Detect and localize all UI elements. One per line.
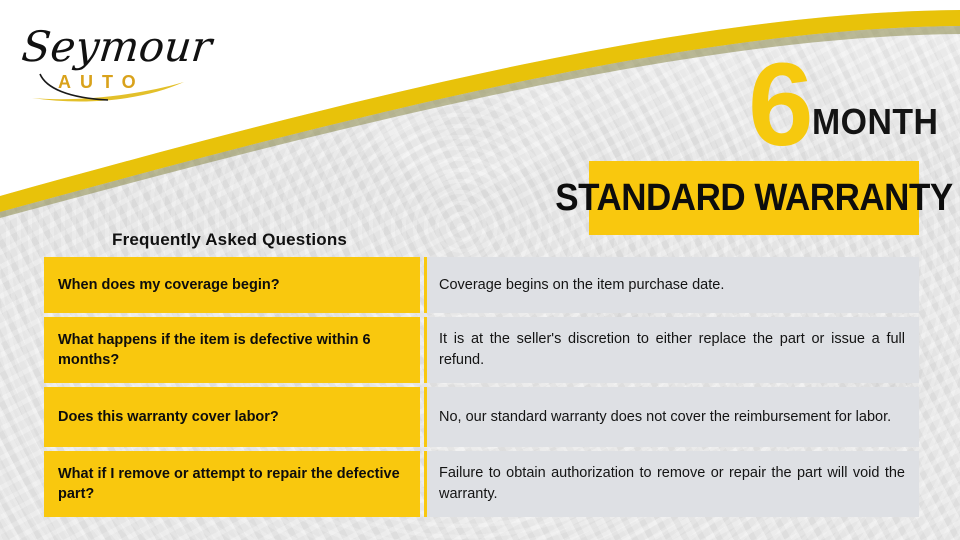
logo-underline-swoosh <box>16 16 196 108</box>
faq-answer-cell: Coverage begins on the item purchase dat… <box>424 257 919 313</box>
faq-answer-text: No, our standard warranty does not cover… <box>439 407 905 428</box>
faq-answer-cell: It is at the seller's discretion to eith… <box>424 317 919 383</box>
table-row: What happens if the item is defective wi… <box>44 317 919 383</box>
faq-table: When does my coverage begin? Coverage be… <box>44 257 919 517</box>
faq-question-cell: What if I remove or attempt to repair th… <box>44 451 420 517</box>
warranty-duration-number: 6 <box>748 46 812 164</box>
table-row: Does this warranty cover labor? No, our … <box>44 387 919 447</box>
faq-question-text: When does my coverage begin? <box>58 275 280 295</box>
faq-question-cell: What happens if the item is defective wi… <box>44 317 420 383</box>
faq-answer-text: Failure to obtain authorization to remov… <box>439 463 905 505</box>
faq-heading: Frequently Asked Questions <box>112 230 347 250</box>
warranty-slide: Seymour AUTO 6 MONTH STANDARD WARRANTY F… <box>0 0 960 540</box>
standard-warranty-banner: STANDARD WARRANTY <box>589 161 919 235</box>
faq-answer-text: Coverage begins on the item purchase dat… <box>439 275 905 296</box>
faq-question-text: What happens if the item is defective wi… <box>58 330 406 370</box>
faq-question-text: What if I remove or attempt to repair th… <box>58 464 406 504</box>
faq-question-cell: Does this warranty cover labor? <box>44 387 420 447</box>
table-row: What if I remove or attempt to repair th… <box>44 451 919 517</box>
warranty-duration-unit: MONTH <box>812 104 938 140</box>
faq-answer-cell: Failure to obtain authorization to remov… <box>424 451 919 517</box>
table-row: When does my coverage begin? Coverage be… <box>44 257 919 313</box>
seymour-auto-logo: Seymour AUTO <box>16 16 196 108</box>
faq-question-cell: When does my coverage begin? <box>44 257 420 313</box>
faq-answer-cell: No, our standard warranty does not cover… <box>424 387 919 447</box>
standard-warranty-label: STANDARD WARRANTY <box>555 179 952 217</box>
faq-question-text: Does this warranty cover labor? <box>58 407 279 427</box>
faq-answer-text: It is at the seller's discretion to eith… <box>439 329 905 371</box>
